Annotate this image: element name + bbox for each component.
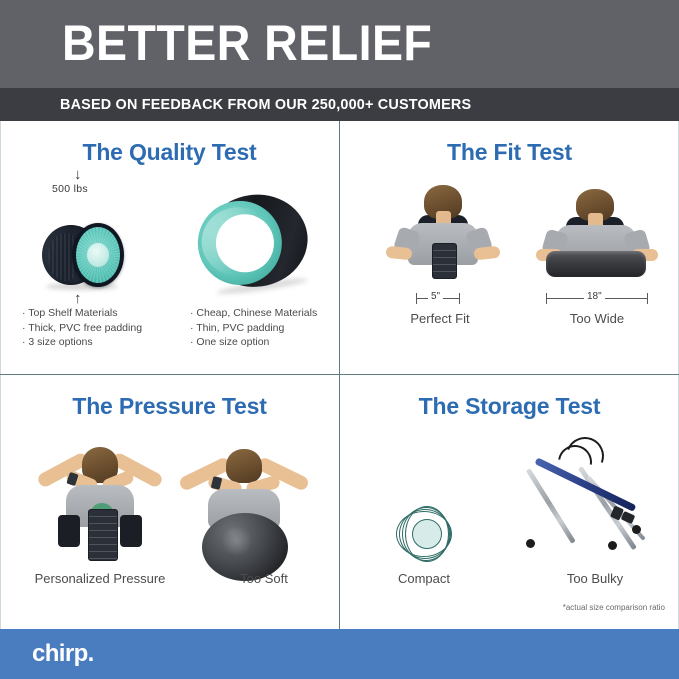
pressure-bad-caption: Too Soft bbox=[204, 571, 324, 586]
person-on-wheel-illustration bbox=[32, 441, 168, 561]
chirp-wheel-under-back bbox=[88, 509, 118, 561]
person-perfect-fit-illustration bbox=[378, 181, 508, 296]
quality-good-bullets: · Top Shelf Materials · Thick, PVC free … bbox=[22, 306, 142, 350]
leg-right bbox=[120, 515, 142, 547]
footer-bar bbox=[0, 629, 679, 679]
list-item: · One size option bbox=[190, 335, 317, 350]
page-title: BETTER RELIEF bbox=[62, 14, 432, 72]
head-hair bbox=[226, 449, 262, 483]
ball-highlight bbox=[220, 527, 254, 555]
person-too-wide-illustration bbox=[532, 189, 662, 299]
quadrant-fit-test: The Fit Test 5" Perfect Fit bbox=[340, 121, 679, 374]
load-label: 500 lbs bbox=[52, 183, 88, 195]
pressure-test-title: The Pressure Test bbox=[0, 393, 339, 420]
list-item: · Top Shelf Materials bbox=[22, 306, 142, 321]
pole-foot-left bbox=[526, 539, 535, 548]
bulky-equipment-illustration bbox=[518, 421, 668, 561]
list-item: · 3 size options bbox=[22, 335, 142, 350]
quality-bad-bullets: · Cheap, Chinese Materials · Thin, PVC p… bbox=[190, 306, 317, 350]
pole-foot-center bbox=[608, 541, 617, 550]
competitor-wheel-icon bbox=[190, 187, 318, 298]
chirp-wheel-icon bbox=[42, 223, 124, 287]
dim-value: 5" bbox=[428, 291, 443, 302]
pole-foot-right bbox=[632, 525, 641, 534]
clamp-2 bbox=[621, 511, 636, 524]
pressure-good-caption: Personalized Pressure bbox=[8, 571, 192, 586]
fit-test-title: The Fit Test bbox=[340, 139, 679, 166]
quadrant-quality-test: The Quality Test ↓ 500 lbs ↑ bbox=[0, 121, 339, 374]
brand-logo: chirp. bbox=[32, 640, 94, 668]
storage-test-title: The Storage Test bbox=[340, 393, 679, 420]
dim-cap-right bbox=[459, 293, 460, 304]
wheel-hub bbox=[87, 243, 109, 267]
fit-bad-caption: Too Wide bbox=[527, 311, 667, 326]
list-item: · Cheap, Chinese Materials bbox=[190, 306, 317, 321]
list-item: · Thin, PVC padding bbox=[190, 321, 317, 336]
storage-bad-caption: Too Bulky bbox=[530, 571, 660, 586]
dim-value: 18" bbox=[584, 291, 605, 302]
arm-right bbox=[473, 246, 500, 261]
person-on-ball-illustration bbox=[176, 443, 312, 563]
load-arrow-down-icon: ↓ bbox=[74, 167, 82, 182]
quadrant-pressure-test: The Pressure Test Personalized Pressure bbox=[0, 375, 339, 628]
dimension-18in: 18" bbox=[546, 293, 648, 305]
header-subtitle: BASED ON FEEDBACK FROM OUR 250,000+ CUST… bbox=[60, 96, 471, 113]
dim-cap-right bbox=[647, 293, 648, 304]
list-item: · Thick, PVC free padding bbox=[22, 321, 142, 336]
foam-roller-wide bbox=[546, 251, 646, 277]
comparison-grid: The Quality Test ↓ 500 lbs ↑ bbox=[0, 121, 679, 629]
chirp-wheel-small bbox=[432, 243, 457, 279]
leg-left bbox=[58, 515, 80, 547]
storage-footnote: *actual size comparison ratio bbox=[563, 603, 665, 612]
ring-inner-fill bbox=[412, 519, 442, 549]
dimension-5in: 5" bbox=[416, 293, 460, 305]
quality-test-title: The Quality Test bbox=[0, 139, 339, 166]
fit-good-caption: Perfect Fit bbox=[370, 311, 510, 326]
storage-good-caption: Compact bbox=[364, 571, 484, 586]
arm-left bbox=[385, 246, 412, 261]
quadrant-storage-test: The Storage Test Compact bbox=[340, 375, 679, 628]
infographic-page: BETTER RELIEF BASED ON FEEDBACK FROM OUR… bbox=[0, 0, 679, 679]
load-arrow-up-icon: ↑ bbox=[74, 291, 82, 306]
compact-wheel-icon bbox=[396, 505, 454, 563]
